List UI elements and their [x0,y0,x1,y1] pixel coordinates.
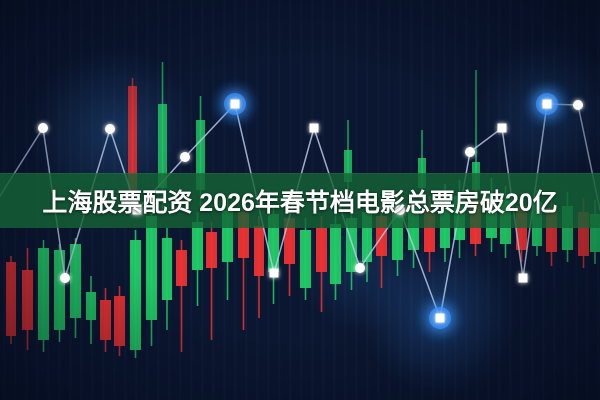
headline-text: 上海股票配资 2026年春节档电影总票房破20亿 [0,173,600,228]
stock-banner-image: 上海股票配资 2026年春节档电影总票房破20亿 [0,0,600,400]
